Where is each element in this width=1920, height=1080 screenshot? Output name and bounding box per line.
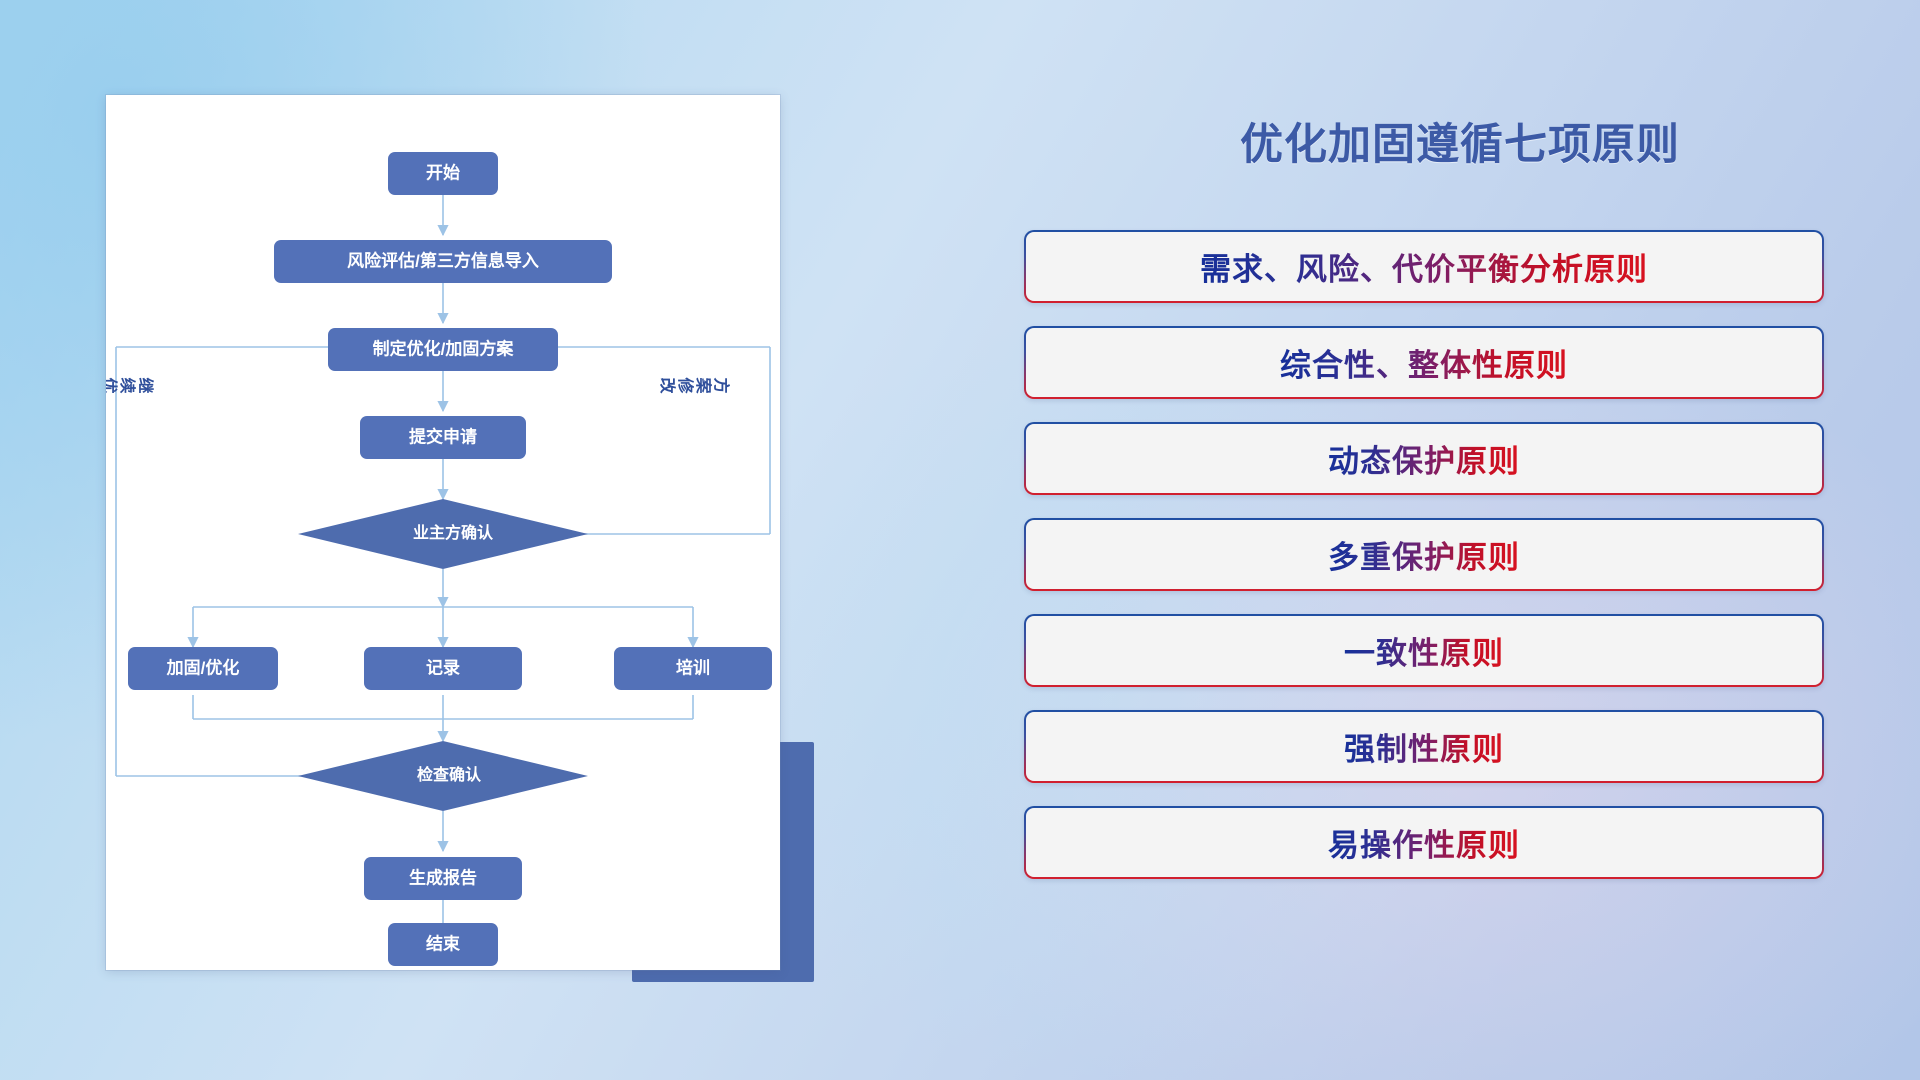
principle-item-label: 综合性、整体性原则	[1280, 340, 1568, 385]
flow-node-risk-assessment[interactable]: 风险评估/第三方信息导入	[274, 240, 612, 283]
flow-node-label: 记录	[426, 658, 460, 677]
flow-node-label: 培训	[676, 657, 710, 677]
flow-node-label: 结束	[426, 933, 460, 953]
flow-node-label: 加固/优化	[166, 657, 240, 677]
principles-panel: 优化加固遵循七项原则 需求、风险、代价平衡分析原则 综合性、整体性原则 动态保护…	[1000, 0, 1920, 1080]
flow-node-check-confirm[interactable]: 检查确认	[298, 741, 588, 811]
principle-item-label: 易操作性原则	[1328, 820, 1520, 865]
loop-label-right: 方案修改	[658, 375, 731, 395]
principle-item[interactable]: 一致性原则	[1024, 614, 1824, 687]
principle-item[interactable]: 需求、风险、代价平衡分析原则	[1024, 230, 1824, 303]
principle-item-label: 动态保护原则	[1328, 436, 1520, 481]
principles-list: 需求、风险、代价平衡分析原则 综合性、整体性原则 动态保护原则 多重保护原则	[1024, 230, 1824, 879]
principle-item-body: 强制性原则	[1026, 712, 1822, 781]
flow-node-start[interactable]: 开始	[388, 152, 498, 195]
principle-item-body: 多重保护原则	[1026, 520, 1822, 589]
flow-node-label: 提交申请	[409, 426, 477, 446]
flow-node-record[interactable]: 记录	[364, 647, 522, 690]
principle-item-body: 需求、风险、代价平衡分析原则	[1026, 232, 1822, 301]
flow-node-report[interactable]: 生成报告	[364, 857, 522, 900]
principle-item[interactable]: 动态保护原则	[1024, 422, 1824, 495]
principle-item-body: 综合性、整体性原则	[1026, 328, 1822, 397]
principle-item-label: 多重保护原则	[1328, 532, 1520, 577]
principle-item-label: 强制性原则	[1344, 724, 1504, 769]
principle-item[interactable]: 强制性原则	[1024, 710, 1824, 783]
flow-node-label: 风险评估/第三方信息导入	[347, 250, 539, 270]
flow-node-label: 生成报告	[409, 867, 477, 887]
flow-node-plan[interactable]: 制定优化/加固方案	[328, 328, 558, 371]
flow-node-label: 开始	[426, 162, 460, 182]
flow-node-label: 业主方确认	[413, 523, 494, 542]
flow-node-submit[interactable]: 提交申请	[360, 416, 526, 459]
flow-node-training[interactable]: 培训	[614, 647, 772, 690]
principle-item-body: 一致性原则	[1026, 616, 1822, 685]
flowchart-card: 开始 风险评估/第三方信息导入 制定优化/加固方案 提交申请 业主方确认	[106, 95, 780, 970]
loop-label-left: 继续优化/加固	[106, 375, 155, 395]
flowchart-panel: 开始 风险评估/第三方信息导入 制定优化/加固方案 提交申请 业主方确认	[0, 0, 860, 1080]
flowchart-diagram: 开始 风险评估/第三方信息导入 制定优化/加固方案 提交申请 业主方确认	[106, 95, 780, 970]
principle-item-label: 需求、风险、代价平衡分析原则	[1200, 244, 1648, 289]
principle-item[interactable]: 易操作性原则	[1024, 806, 1824, 879]
principle-item[interactable]: 综合性、整体性原则	[1024, 326, 1824, 399]
flow-node-label: 制定优化/加固方案	[373, 338, 515, 358]
principle-item-body: 易操作性原则	[1026, 808, 1822, 877]
principle-item-body: 动态保护原则	[1026, 424, 1822, 493]
flow-node-end[interactable]: 结束	[388, 923, 498, 966]
principle-item-label: 一致性原则	[1344, 628, 1504, 673]
principles-title: 优化加固遵循七项原则	[1000, 110, 1920, 172]
flow-node-label: 检查确认	[417, 765, 482, 784]
flow-node-owner-confirm[interactable]: 业主方确认	[298, 499, 588, 569]
slide-canvas: 开始 风险评估/第三方信息导入 制定优化/加固方案 提交申请 业主方确认	[0, 0, 1920, 1080]
flow-node-reinforce[interactable]: 加固/优化	[128, 647, 278, 690]
principle-item[interactable]: 多重保护原则	[1024, 518, 1824, 591]
